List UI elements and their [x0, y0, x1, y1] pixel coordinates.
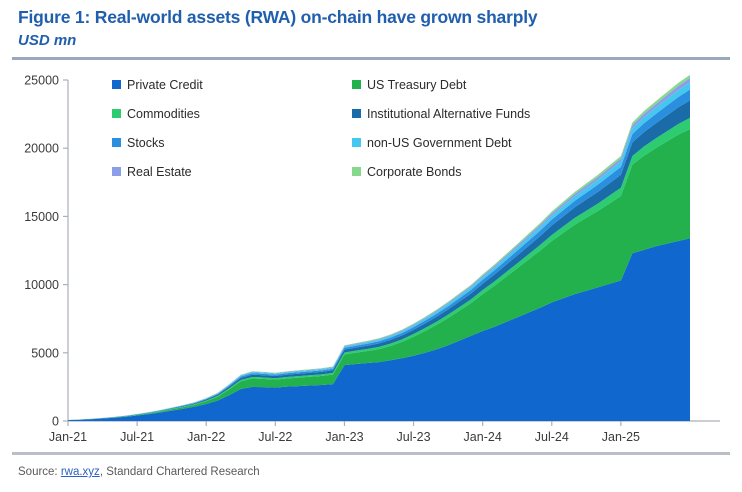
legend-swatch-icon	[352, 167, 361, 176]
x-axis-tick-label: Jan-24	[464, 430, 502, 444]
legend-swatch-icon	[352, 80, 361, 89]
y-axis-tick-label: 25000	[24, 74, 59, 88]
legend-label: Commodities	[127, 107, 200, 121]
footer-divider	[12, 452, 730, 455]
legend-swatch-icon	[112, 138, 121, 147]
y-axis-tick-label: 20000	[24, 142, 59, 156]
source-link[interactable]: rwa.xyz	[61, 466, 100, 478]
header-divider	[12, 57, 730, 60]
x-axis-tick-label: Jul-23	[397, 430, 431, 444]
source-suffix: , Standard Chartered Research	[100, 466, 260, 478]
legend-item[interactable]: Institutional Alternative Funds	[352, 107, 582, 121]
x-axis-tick-label: Jul-21	[120, 430, 154, 444]
chart-legend: Private CreditUS Treasury DebtCommoditie…	[112, 70, 582, 186]
legend-item[interactable]: Corporate Bonds	[352, 165, 582, 179]
y-axis-tick-label: 0	[52, 415, 59, 429]
legend-swatch-icon	[352, 138, 361, 147]
y-axis-tick-label: 10000	[24, 278, 59, 292]
legend-item[interactable]: Stocks	[112, 136, 352, 150]
page-title: Figure 1: Real-world assets (RWA) on-cha…	[18, 7, 537, 28]
legend-swatch-icon	[352, 109, 361, 118]
x-axis-tick-label: Jul-22	[258, 430, 292, 444]
legend-label: US Treasury Debt	[367, 78, 466, 92]
legend-label: Real Estate	[127, 165, 192, 179]
figure-container: Figure 1: Real-world assets (RWA) on-cha…	[0, 0, 742, 492]
legend-item[interactable]: US Treasury Debt	[352, 78, 582, 92]
legend-item[interactable]: Commodities	[112, 107, 352, 121]
legend-label: Stocks	[127, 136, 165, 150]
figure-subtitle: USD mn	[18, 32, 76, 49]
legend-label: non-US Government Debt	[367, 136, 512, 150]
legend-swatch-icon	[112, 80, 121, 89]
x-axis-tick-label: Jan-21	[49, 430, 87, 444]
x-axis-tick-label: Jan-22	[187, 430, 225, 444]
legend-label: Corporate Bonds	[367, 165, 462, 179]
y-axis-tick-label: 5000	[31, 346, 59, 360]
source-note: Source: rwa.xyz, Standard Chartered Rese…	[18, 466, 260, 478]
legend-label: Institutional Alternative Funds	[367, 107, 530, 121]
x-axis-tick-label: Jul-24	[535, 430, 569, 444]
x-axis-tick-label: Jan-25	[602, 430, 640, 444]
chart-area: 0500010000150002000025000Jan-21Jul-21Jan…	[0, 62, 742, 444]
legend-swatch-icon	[112, 167, 121, 176]
y-axis-tick-label: 15000	[24, 210, 59, 224]
legend-item[interactable]: Private Credit	[112, 78, 352, 92]
source-prefix: Source:	[18, 466, 61, 478]
legend-item[interactable]: non-US Government Debt	[352, 136, 582, 150]
x-axis-tick-label: Jan-23	[325, 430, 363, 444]
legend-swatch-icon	[112, 109, 121, 118]
legend-item[interactable]: Real Estate	[112, 165, 352, 179]
legend-label: Private Credit	[127, 78, 203, 92]
